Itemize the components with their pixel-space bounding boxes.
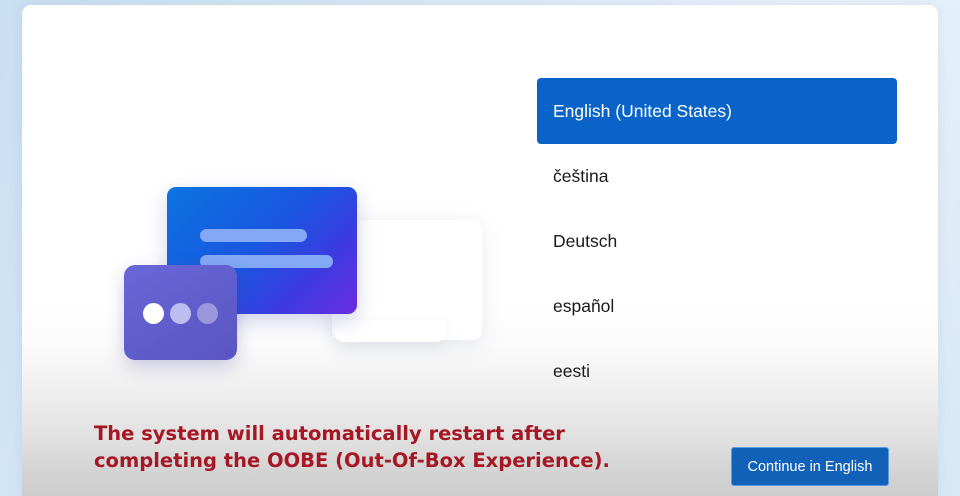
text-bar-icon: [200, 229, 307, 242]
language-option-label: español: [553, 296, 614, 317]
language-option-label: Deutsch: [553, 231, 617, 252]
progress-dot-icon: [143, 303, 164, 324]
language-list[interactable]: English (United States) čeština Deutsch …: [537, 78, 897, 404]
continue-button[interactable]: Continue in English: [731, 447, 889, 486]
language-option-cestina[interactable]: čeština: [537, 144, 897, 209]
language-option-deutsch[interactable]: Deutsch: [537, 209, 897, 274]
ghost-card-tail-icon: [335, 320, 445, 342]
progress-dot-icon: [197, 303, 218, 324]
language-option-espanol[interactable]: español: [537, 274, 897, 339]
language-option-eesti[interactable]: eesti: [537, 339, 897, 404]
restart-warning-text: The system will automatically restart af…: [94, 421, 634, 475]
language-option-label: čeština: [553, 166, 608, 187]
language-option-english-united-states[interactable]: English (United States): [537, 78, 897, 144]
restart-warning-line-2: completing the OOBE (Out-Of-Box Experien…: [94, 448, 634, 475]
setup-cards-illustration: [102, 165, 442, 380]
restart-warning-line-1: The system will automatically restart af…: [94, 421, 634, 448]
progress-dot-icon: [170, 303, 191, 324]
continue-button-label: Continue in English: [748, 459, 873, 475]
language-option-label: eesti: [553, 361, 590, 382]
setup-panel: English (United States) čeština Deutsch …: [22, 5, 938, 496]
purple-progress-card-icon: [124, 265, 237, 360]
language-option-label: English (United States): [553, 101, 732, 122]
